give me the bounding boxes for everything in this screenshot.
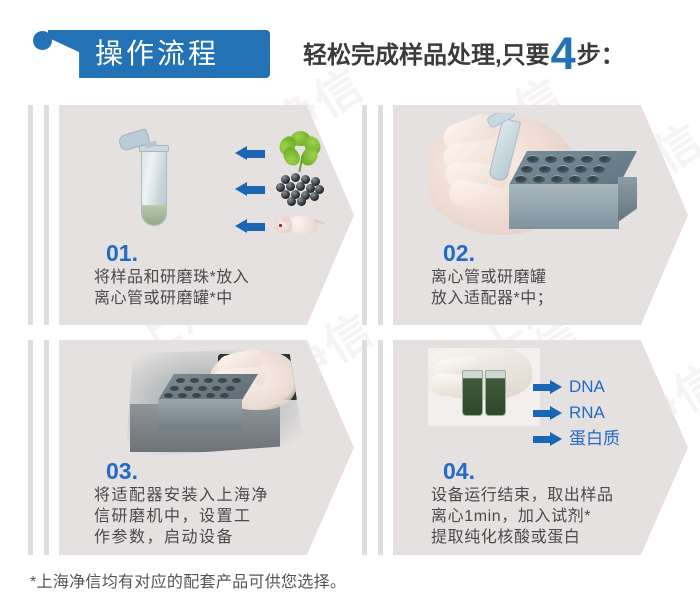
card-accent-bar	[378, 105, 383, 325]
mouse-icon	[273, 209, 325, 240]
step-caption: 离心管或研磨罐 放入适配器*中；	[431, 267, 681, 309]
adapter-block-icon	[509, 151, 637, 229]
arrow-right-icon	[533, 380, 562, 394]
step-caption: 将适配器安装入上海净 信研磨机中，设置工 作参数，启动设备	[94, 485, 344, 548]
sample-tube-icon	[485, 370, 506, 416]
page-title: 轻松完成样品处理,只要4步：	[303, 34, 625, 78]
card-content: DNA RNA 蛋白质 04. 设备运行结束，取出样品 离心1min，加入试剂*…	[393, 340, 688, 555]
card-accent-bar	[44, 340, 49, 555]
step-card-2: 02. 离心管或研磨罐 放入适配器*中；	[362, 105, 694, 325]
card-accent-bar	[28, 340, 33, 555]
sample-tube-icon	[462, 370, 483, 416]
output-label: DNA	[569, 376, 605, 398]
arrow-left-icon	[235, 146, 265, 161]
step-number: 03.	[106, 459, 138, 483]
card-accent-bar	[44, 105, 49, 325]
page-header: 操作流程 轻松完成样品处理,只要4步：	[0, 0, 700, 92]
output-label: RNA	[569, 402, 605, 424]
grinding-beads-icon	[275, 173, 325, 203]
test-tube-icon	[137, 132, 171, 227]
card-accent-bar	[362, 105, 367, 325]
adapter-block-icon	[158, 374, 258, 430]
step-caption: 设备运行结束，取出样品 离心1min，加入试剂* 提取纯化核酸或蛋白	[431, 485, 686, 548]
output-label: 蛋白质	[569, 428, 620, 450]
card-content: 01. 将样品和研磨珠*放入 离心管或研磨罐*中	[59, 105, 354, 325]
card-content: 02. 离心管或研磨罐 放入适配器*中；	[393, 105, 688, 325]
card-accent-bar	[28, 105, 33, 325]
card-content: 03. 将适配器安装入上海净 信研磨机中，设置工 作参数，启动设备	[59, 340, 354, 555]
arrow-right-icon	[533, 432, 562, 446]
card-accent-bar	[362, 340, 367, 555]
arrow-right-icon	[533, 406, 562, 420]
step-number: 01.	[106, 241, 138, 265]
headline-prefix: 轻松完成样品处理,只要	[303, 42, 550, 69]
headline-suffix: 步：	[577, 42, 625, 69]
headline-step-count: 4	[551, 28, 576, 79]
step-number: 02.	[443, 241, 475, 265]
step-card-4: DNA RNA 蛋白质 04. 设备运行结束，取出样品 离心1min，加入试剂*…	[362, 340, 694, 555]
footnote: *上海净信均有对应的配套产品可供您选择。	[30, 568, 346, 592]
step-card-3: 03. 将适配器安装入上海净 信研磨机中，设置工 作参数，启动设备	[28, 340, 360, 555]
section-banner-label: 操作流程	[95, 33, 275, 75]
leaf-icon	[277, 131, 323, 173]
arrow-left-icon	[235, 219, 265, 234]
gloved-hand-tubes-photo	[428, 348, 540, 426]
arrow-left-icon	[235, 182, 265, 197]
step-number: 04.	[443, 459, 475, 483]
step-card-1: 01. 将样品和研磨珠*放入 离心管或研磨罐*中	[28, 105, 360, 325]
installing-adapter-photo	[114, 348, 304, 458]
hand-loading-tube-photo	[429, 113, 651, 235]
step-caption: 将样品和研磨珠*放入 离心管或研磨罐*中	[94, 267, 344, 309]
card-accent-bar	[378, 340, 383, 555]
